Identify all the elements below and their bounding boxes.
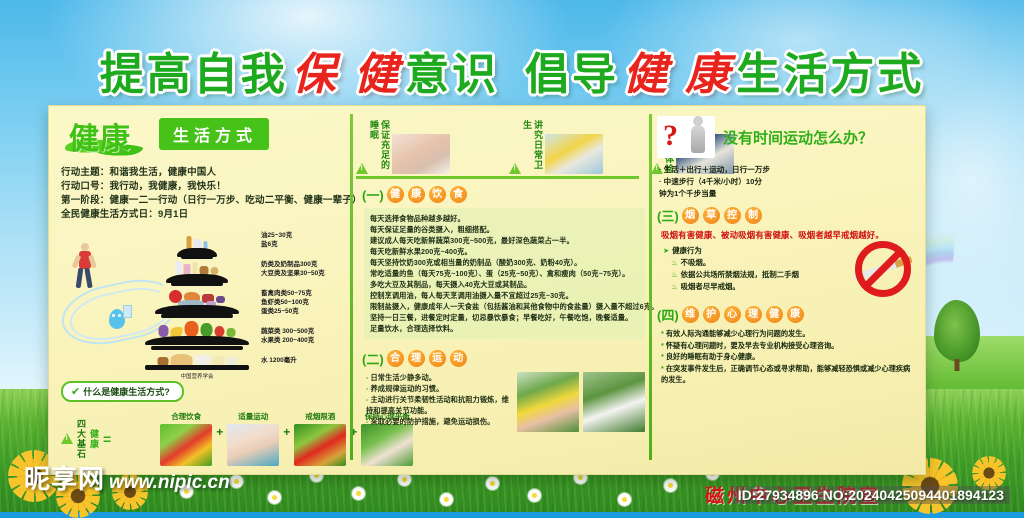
habit-hygiene: 讲究日常卫生 xyxy=(509,120,647,174)
food-pagoda: 中国营养学会 xyxy=(143,229,251,369)
exercise-bullet-text: 主动进行关节柔韧性活动和抗阻力锻炼，维持和提高关节功能。 xyxy=(366,395,509,415)
slogan-theme: 行动主题：和谐我生活，健康中国人 xyxy=(61,166,343,180)
cornerstone-item-exercise: 适量运动 xyxy=(227,411,279,466)
pagoda-caption: 中国营养学会 xyxy=(143,372,251,380)
section-title-char: 健 xyxy=(387,186,404,203)
two-women-exercising-photo xyxy=(227,424,279,466)
daisy-icon xyxy=(618,493,631,506)
section-title-char: 康 xyxy=(408,186,425,203)
headline-part-2-red: 保 健 xyxy=(288,50,405,99)
plus-sign: + xyxy=(283,425,290,439)
brand-subtitle: 生活方式 xyxy=(159,118,269,150)
diet-line: 常吃适量的鱼（每天75克~100克）、蛋（25克~50克）、禽和瘦肉（50克~7… xyxy=(370,268,639,279)
answer-line: · 中速步行（4千米/小时）10分 xyxy=(659,176,917,188)
headline-part-5-red: 健 康 xyxy=(619,50,736,99)
mental-item: *良好的睡眠有助于身心健康。 xyxy=(661,351,917,363)
leaf-icon: ♨ xyxy=(671,270,678,279)
section-title-char: 健 xyxy=(766,306,783,323)
section-title-char: 理 xyxy=(408,350,425,367)
mental-item-text: 良好的睡眠有助于身心健康。 xyxy=(666,352,759,361)
star-icon: * xyxy=(661,364,664,373)
headline-part-4: 倡导 xyxy=(525,50,619,99)
section-title-char: 理 xyxy=(745,306,762,323)
nutrition-group-produce: 蔬菜类 300~500克 水果类 200~400克 xyxy=(261,327,355,345)
habit-strip-rule xyxy=(356,176,639,179)
section-mental-health: (四) 维 护 心 理 健 康 *有效人际沟通能够减少心理行为问题的发生。 *怀… xyxy=(657,305,917,386)
section-title-char: 维 xyxy=(682,306,699,323)
cornerstone-caption: 合理饮食 xyxy=(160,411,212,422)
exercise-bullet: -采取必要的防护措施，避免运动损伤。 xyxy=(366,416,511,427)
pagoda-roof-4 xyxy=(145,336,249,345)
section-number: (三) xyxy=(657,206,679,225)
food-pagoda-illustration: 中国营养学会 油25~30克 盐6克 奶类及奶制品300克 大豆类及坚果30~5… xyxy=(57,225,343,375)
runner-figure-icon xyxy=(73,243,99,301)
exercise-bullet-text: 养成规律运动的习惯。 xyxy=(371,384,444,393)
diet-line: 每天吃新鲜水果200克~400克。 xyxy=(370,246,639,257)
nutrition-group-meat: 畜禽肉类50~75克 鱼虾类50~100克 蛋类25~50克 xyxy=(261,289,355,316)
daisy-icon xyxy=(268,491,281,504)
tobacco-behavior-list: ➤健康行为 ♨不吸烟。 ♨依据公共场所禁烟法规，抵制二手烟 ♨吸烟者尽早戒烟。 xyxy=(663,245,917,293)
equals-sign: = xyxy=(103,431,111,447)
habit-label: 保证充足的睡眠 xyxy=(368,120,390,174)
exercise-bullet-text: 采取必要的防护措施，避免运动损伤。 xyxy=(371,417,495,426)
sleeping-woman-photo xyxy=(392,134,450,174)
alert-triangle-icon xyxy=(61,433,73,444)
section-exercise-body: -日常生活少静多动。 -养成规律运动的习惯。 -主动进行关节柔韧性活动和抗阻力锻… xyxy=(366,372,645,432)
exercise-bullet: -主动进行关节柔韧性活动和抗阻力锻炼，维持和提高关节功能。 xyxy=(366,394,511,416)
star-icon: * xyxy=(661,352,664,361)
children-brushing-teeth-photo xyxy=(545,134,603,174)
tobacco-item-text: 不吸烟。 xyxy=(681,258,711,267)
sunflower-icon xyxy=(972,456,1006,490)
right-column: ? 没有时间运动怎么办？ · 生活＋出行＋运动，日行一万步 · 中速步行（4千米… xyxy=(649,106,925,474)
site-watermark: 昵享网 www.nipic.cn xyxy=(24,459,230,496)
section-title-char: 护 xyxy=(703,306,720,323)
watermark-id-text: ID:27934896 NO:20240425094401894123 xyxy=(732,486,1010,504)
column-divider-right xyxy=(649,114,652,460)
left-column: 健康 生活方式 行动主题：和谐我生活，健康中国人 行动口号：我行动，我健康，我快… xyxy=(49,106,349,474)
section-diet-body: 每天选择食物品种越多越好。 每天保证足量的谷类摄入，粗细搭配。 建议成人每天吃新… xyxy=(364,208,645,339)
leaf-icon: ♨ xyxy=(671,282,678,291)
diet-line: 坚持一日三餐，进餐定时定量，切忌暴饮暴食；早餐吃好，午餐吃饱，晚餐适量。 xyxy=(370,312,639,323)
section-number: (四) xyxy=(657,305,679,324)
no-time-answer-lines: · 生活＋出行＋运动，日行一万步 · 中速步行（4千米/小时）10分 钟为1个千… xyxy=(659,164,917,200)
pagoda-tier-5-foods xyxy=(158,348,237,366)
headline-part-3: 意识 xyxy=(405,50,499,99)
daisy-icon xyxy=(352,487,365,500)
action-slogans: 行动主题：和谐我生活，健康中国人 行动口号：我行动，我健康，我快乐！ 第一阶段：… xyxy=(61,166,343,222)
slogan-phase: 第一阶段：健康一二一行动（日行一万步、吃动二平衡、健康一辈子） xyxy=(61,194,343,208)
daisy-icon xyxy=(440,493,453,506)
nutrition-line: 水 1200毫升 xyxy=(261,356,355,365)
section-title-char: 制 xyxy=(745,207,762,224)
tobacco-group-text: 健康行为 xyxy=(672,246,702,255)
question-mark-glyph: ? xyxy=(663,119,678,153)
section-title-char: 康 xyxy=(787,306,804,323)
slogan-day: 全民健康生活方式日：9月1日 xyxy=(61,208,343,222)
diet-line: 建议成人每天吃新鲜蔬菜300克~500克，最好深色蔬菜占一半。 xyxy=(370,235,639,246)
daisy-icon xyxy=(486,477,499,490)
habit-label: 讲究日常卫生 xyxy=(521,120,543,174)
daisy-icon xyxy=(528,489,541,502)
mental-item-text: 怀疑有心理问题时，要及早去专业机构接受心理咨询。 xyxy=(666,341,839,350)
watermark-site-url: www.nipic.cn xyxy=(109,472,230,494)
arrow-icon: ➤ xyxy=(663,246,669,255)
answer-line: · 生活＋出行＋运动，日行一万步 xyxy=(659,164,917,176)
section-number: (二) xyxy=(362,349,384,368)
nutrition-line: 蛋类25~50克 xyxy=(261,307,355,316)
nutrition-line: 油25~30克 xyxy=(261,231,355,240)
watermark-site-name: 昵享网 xyxy=(24,459,105,496)
cornerstone-item-no-smoking: 戒烟限酒 xyxy=(294,411,346,466)
exercise-bullets: -日常生活少静多动。 -养成规律运动的习惯。 -主动进行关节柔韧性活动和抗阻力锻… xyxy=(366,372,511,432)
section-tobacco-control: (三) 烟 草 控 制 吸烟有害健康、被动吸烟有害健康、吸烟者越早戒烟越好。 ➤… xyxy=(657,206,917,293)
section-title-char: 草 xyxy=(703,207,720,224)
nutrition-line: 蔬菜类 300~500克 xyxy=(261,327,355,336)
nutrition-line: 盐6克 xyxy=(261,240,355,249)
section-title-char: 控 xyxy=(724,207,741,224)
nutrition-line: 奶类及奶制品300克 xyxy=(261,260,355,269)
brand-title: 健康 xyxy=(69,114,131,158)
section-title-char: 心 xyxy=(724,306,741,323)
mental-item: *怀疑有心理问题时，要及早去专业机构接受心理咨询。 xyxy=(661,340,917,352)
mental-item: *在突发事件发生后，正确调节心态或寻求帮助，能够减轻恐惧或减少心理疾病的发生。 xyxy=(661,363,917,386)
cornerstone-label-b: 健康 xyxy=(88,429,99,449)
middle-column: 保证充足的睡眠 讲究日常卫生 定期体检 (一) 健 康 饮 食 xyxy=(349,106,649,474)
water-drop-mascot-icon xyxy=(107,307,127,335)
section-diet-header: (一) 健 康 饮 食 xyxy=(362,185,645,204)
headline-part-1: 提高自我 xyxy=(100,50,288,99)
mental-item-text: 在突发事件发生后，正确调节心态或寻求帮助，能够减轻恐惧或减少心理疾病的发生。 xyxy=(661,364,910,385)
section-title-char: 合 xyxy=(387,350,404,367)
nutrition-line: 大豆类及坚果30~50克 xyxy=(261,269,355,278)
star-icon: * xyxy=(661,341,664,350)
what-is-healthy-lifestyle-badge: ✔什么是健康生活方式? xyxy=(61,381,184,402)
nutrition-group-oil-salt: 油25~30克 盐6克 xyxy=(261,231,355,249)
no-time-question-row: ? 没有时间运动怎么办？ xyxy=(657,116,917,158)
pagoda-base xyxy=(145,365,249,370)
section-number: (一) xyxy=(362,185,384,204)
nutrition-group-water: 水 1200毫升 xyxy=(261,356,355,365)
exercise-bullet: -日常生活少静多动。 xyxy=(366,372,511,383)
section-title-char: 运 xyxy=(429,350,446,367)
nutrition-group-dairy-soy: 奶类及奶制品300克 大豆类及坚果30~50克 xyxy=(261,260,355,278)
cornerstone-label-a: 四大基石 xyxy=(75,419,86,459)
mental-item-text: 有效人际沟通能够减少心理行为问题的发生。 xyxy=(666,329,810,338)
section-title-char: 食 xyxy=(450,186,467,203)
diet-line: 每天选择食物品种越多越好。 xyxy=(370,213,639,224)
alert-triangle-icon xyxy=(356,163,368,174)
tobacco-item-text: 吸烟者尽早戒烟。 xyxy=(681,282,740,291)
pagoda-tier-2-foods xyxy=(176,259,219,275)
dash-icon: - xyxy=(366,384,369,393)
section-reasonable-exercise: (二) 合 理 运 动 -日常生活少静多动。 -养成规律运动的习惯。 -主动进行… xyxy=(362,349,645,432)
red-question-mark-figure-icon: ? xyxy=(657,116,715,158)
pagoda-tier-4-foods xyxy=(159,317,236,337)
star-icon: * xyxy=(661,329,664,338)
mental-item: *有效人际沟通能够减少心理行为问题的发生。 xyxy=(661,328,917,340)
nutrition-amount-labels: 油25~30克 盐6克 奶类及奶制品300克 大豆类及坚果30~50克 畜禽肉类… xyxy=(261,231,355,376)
jogging-couple-photo xyxy=(517,372,579,432)
brand-logo: 健康 生活方式 xyxy=(63,116,343,160)
four-cornerstones-row: 四大基石 健康 = 合理饮食 + 适量运动 + 戒烟限酒 xyxy=(61,411,343,466)
section-mental-header: (四) 维 护 心 理 健 康 xyxy=(657,305,917,324)
diet-line: 每天坚持饮奶300克或相当量的奶制品（酸奶300克、奶粉40克）。 xyxy=(370,257,639,268)
exercise-bullet-text: 日常生活少静多动。 xyxy=(371,373,437,382)
leaf-icon: ♨ xyxy=(671,258,678,267)
no-smoking-icon xyxy=(855,241,911,297)
nutrition-line: 水果类 200~400克 xyxy=(261,336,355,345)
what-is-label: 什么是健康生活方式? xyxy=(83,387,170,397)
four-cornerstones-label: 四大基石 健康 = xyxy=(61,419,157,459)
section-exercise-header: (二) 合 理 运 动 xyxy=(362,349,645,368)
nutrition-line: 畜禽肉类50~75克 xyxy=(261,289,355,298)
section-title-char: 烟 xyxy=(682,207,699,224)
habit-sleep: 保证充足的睡眠 xyxy=(356,120,505,174)
mental-health-items: *有效人际沟通能够减少心理行为问题的发生。 *怀疑有心理问题时，要及早去专业机构… xyxy=(661,328,917,386)
exercise-photos xyxy=(517,372,645,432)
dash-icon: - xyxy=(366,395,369,404)
tobacco-warning-text: 吸烟有害健康、被动吸烟有害健康、吸烟者越早戒烟越好。 xyxy=(661,229,917,241)
headline-part-6: 生活方式 xyxy=(736,50,924,99)
pagoda-roof-3 xyxy=(155,305,239,314)
section-title-char: 动 xyxy=(450,350,467,367)
section-tobacco-header: (三) 烟 草 控 制 xyxy=(657,206,917,225)
cornerstone-caption: 适量运动 xyxy=(227,411,279,422)
tobacco-item-text: 依据公共场所禁烟法规，抵制二手烟 xyxy=(681,270,799,279)
diet-line: 限制盐摄入，健康成年人一天食盐（包括酱油和其他食物中的食盐量）摄入量不超过6克。 xyxy=(370,301,639,312)
cornerstone-item-diet: 合理饮食 xyxy=(160,411,212,466)
diet-line: 多吃大豆及其制品，每天摄入40克大豆或其制品。 xyxy=(370,279,639,290)
dash-icon: - xyxy=(366,373,369,382)
pagoda-tier-1-foods xyxy=(187,235,208,249)
person-figure-icon xyxy=(691,125,705,153)
check-icon: ✔ xyxy=(71,386,80,398)
poster-board: 健康 生活方式 行动主题：和谐我生活，健康中国人 行动口号：我行动，我健康，我快… xyxy=(48,105,926,475)
taichi-man-photo xyxy=(583,372,645,432)
daisy-icon xyxy=(664,479,677,492)
section-title-char: 饮 xyxy=(429,186,446,203)
column-divider-left xyxy=(350,114,353,460)
diet-line: 足量饮水，合理选择饮料。 xyxy=(370,323,639,334)
exercise-bullet: -养成规律运动的习惯。 xyxy=(366,383,511,394)
diet-line: 控制烹调用油，每人每天烹调用油摄入量不宜超过25克~30克。 xyxy=(370,290,639,301)
nutrition-line: 鱼虾类50~100克 xyxy=(261,298,355,307)
plus-sign: + xyxy=(216,425,223,439)
no-time-question-title: 没有时间运动怎么办？ xyxy=(723,127,873,148)
daisy-icon xyxy=(230,475,243,488)
dash-icon: - xyxy=(366,417,369,426)
answer-line: 钟为1个千步当量 xyxy=(659,188,917,200)
poster-headline: 提高自我保 健意识倡导健 康生活方式 xyxy=(0,38,1024,102)
no-cigarettes-alcohol-photo xyxy=(294,424,346,466)
diet-line: 每天保证足量的谷类摄入，粗细搭配。 xyxy=(370,224,639,235)
slogan-motto: 行动口号：我行动，我健康，我快乐！ xyxy=(61,180,343,194)
lifestyle-habit-strip: 保证充足的睡眠 讲究日常卫生 定期体检 xyxy=(352,112,645,174)
section-healthy-diet: (一) 健 康 饮 食 每天选择食物品种越多越好。 每天保证足量的谷类摄入，粗细… xyxy=(362,185,645,339)
alert-triangle-icon xyxy=(509,163,521,174)
cornerstone-caption: 戒烟限酒 xyxy=(294,411,346,422)
